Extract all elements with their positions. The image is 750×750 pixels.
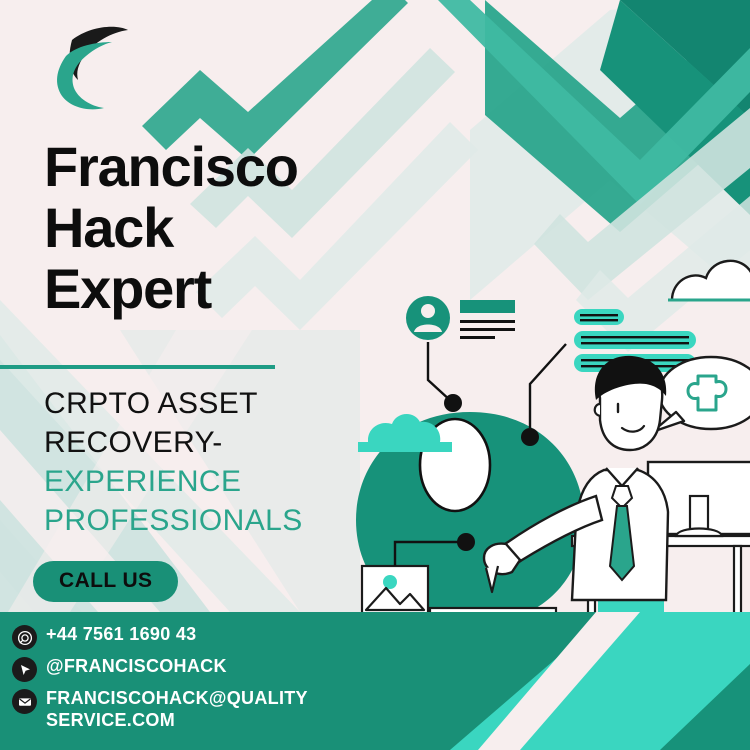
headline-line-1: Francisco [44,136,394,197]
subtitle: CRPTO ASSET RECOVERY- EXPERIENCE PROFESS… [44,384,374,540]
headline-divider [0,365,275,369]
francisco-hack-swoosh-logo [42,22,138,114]
logo-teal-swoosh [57,42,112,109]
subtitle-line-3: EXPERIENCE [44,462,374,501]
page-title: Francisco Hack Expert [44,136,394,319]
subtitle-line-4: PROFESSIONALS [44,501,374,540]
telegram-cursor-icon [12,657,37,682]
envelope-icon [12,689,37,714]
subtitle-line-1: CRPTO ASSET [44,384,374,423]
headline-line-3: Expert [44,258,394,319]
contact-email[interactable]: FRANCISCOHACK@QUALITY SERVICE.COM [12,688,432,732]
poster-canvas: Francisco Hack Expert CRPTO ASSET RECOVE… [0,0,750,750]
subtitle-line-2: RECOVERY- [44,423,374,462]
contact-bar: +44 7561 1690 43 @FRANCISCOHACK FRA [0,612,750,750]
headline-line-2: Hack [44,197,394,258]
whatsapp-icon [12,625,37,650]
contact-email-label: FRANCISCOHACK@QUALITY SERVICE.COM [46,688,346,732]
contact-telegram[interactable]: @FRANCISCOHACK [12,656,432,682]
call-us-button[interactable]: CALL US [33,561,178,602]
contact-phone[interactable]: +44 7561 1690 43 [12,624,432,650]
contact-telegram-label: @FRANCISCOHACK [46,656,227,678]
contact-list: +44 7561 1690 43 @FRANCISCOHACK FRA [12,624,432,738]
contact-phone-label: +44 7561 1690 43 [46,624,196,646]
